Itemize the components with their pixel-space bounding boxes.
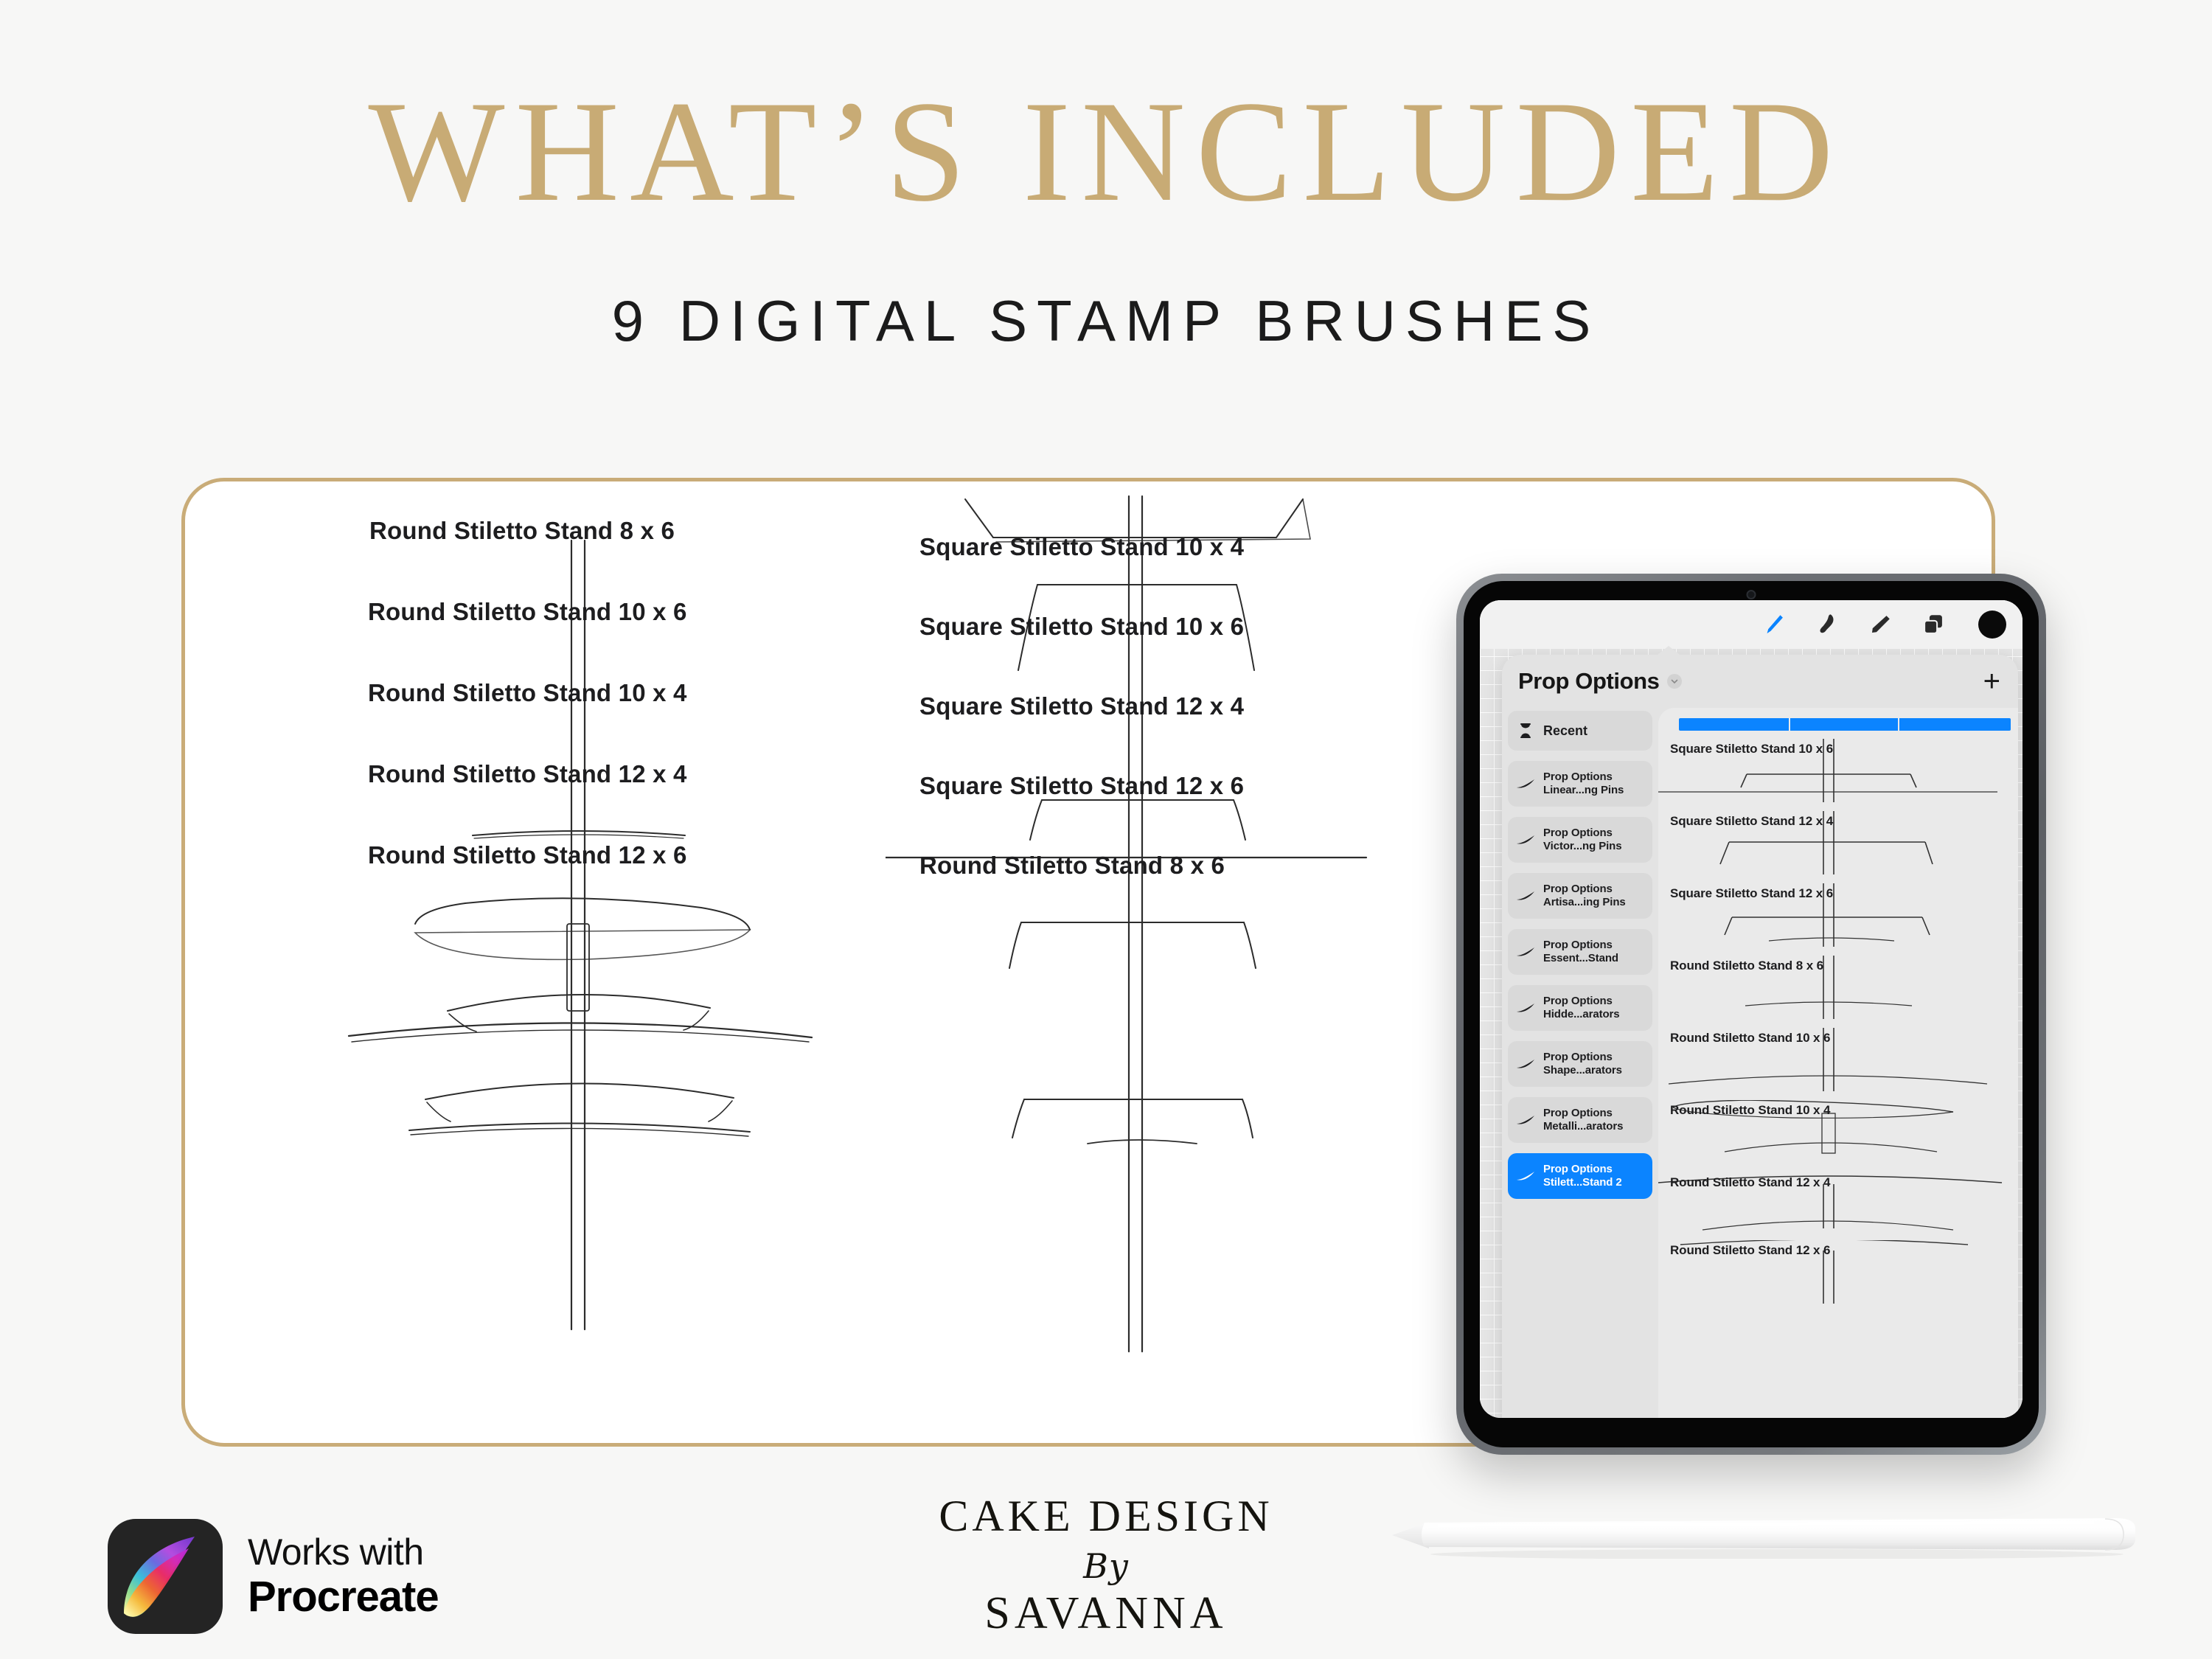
brush-name: Square Stiletto Stand 10 x 6	[1670, 742, 1833, 757]
ipad-bezel: Prop Options +	[1464, 581, 2039, 1447]
brush-set-item[interactable]: Prop Options Shape...arators	[1508, 1041, 1652, 1087]
brush-set-label: Prop Options Hidde...arators	[1543, 995, 1620, 1020]
page-title: WHAT’S INCLUDED	[0, 80, 2212, 224]
brush-stroke-icon	[1515, 1003, 1536, 1013]
page-subtitle: 9 DIGITAL STAMP BRUSHES	[0, 288, 2212, 355]
brush-list-item[interactable]: Round Stiletto Stand 8 x 6	[1658, 956, 2018, 1019]
brush-tool-icon[interactable]	[1761, 612, 1787, 637]
brush-stroke-icon	[1515, 947, 1536, 957]
illustration-label: Round Stiletto Stand 8 x 6	[919, 852, 1225, 880]
procreate-toolbar	[1480, 600, 2023, 649]
brush-list-item[interactable]: Square Stiletto Stand 12 x 4	[1658, 811, 2018, 874]
brand-line-2: By	[0, 1546, 2212, 1586]
brush-preview-bar	[1679, 718, 2011, 731]
eraser-tool-icon[interactable]	[1868, 612, 1893, 637]
brush-set-item[interactable]: Prop Options Artisa...ing Pins	[1508, 873, 1652, 919]
brush-set-list: Recent Prop Options Linear...ng Pins	[1502, 708, 1658, 1418]
panel-header: Prop Options +	[1502, 655, 2018, 708]
brush-set-line1: Prop Options	[1543, 827, 1613, 839]
brush-thumbnail-list[interactable]: Square Stiletto Stand 10 x 6 Square Sti	[1658, 708, 2018, 1418]
brush-set-line2: Victor...ng Pins	[1543, 840, 1621, 852]
brush-set-recent[interactable]: Recent	[1508, 711, 1652, 751]
brush-set-line1: Prop Options	[1543, 883, 1613, 895]
brush-set-item[interactable]: Prop Options Metalli...arators	[1508, 1097, 1652, 1143]
layers-tool-icon[interactable]	[1921, 612, 1946, 637]
brand-line-1: CAKE DESIGN	[0, 1491, 2212, 1542]
panel-caret-icon	[1654, 646, 1683, 658]
ipad-screen: Prop Options +	[1480, 600, 2023, 1418]
brush-name: Round Stiletto Stand 12 x 4	[1670, 1175, 1830, 1190]
brush-stroke-icon	[1515, 1059, 1536, 1069]
illustration-label: Round Stiletto Stand 10 x 6	[368, 598, 687, 626]
illustration-label: Square Stiletto Stand 10 x 4	[919, 533, 1244, 561]
brush-set-label: Prop Options Linear...ng Pins	[1543, 771, 1624, 796]
brush-name: Round Stiletto Stand 10 x 4	[1670, 1103, 1830, 1118]
brush-set-item[interactable]: Prop Options Victor...ng Pins	[1508, 817, 1652, 863]
brush-set-line1: Prop Options	[1543, 995, 1613, 1007]
brush-set-label: Recent	[1543, 723, 1587, 739]
brush-list-item[interactable]: Square Stiletto Stand 10 x 6	[1658, 739, 2018, 802]
brush-set-line2: Linear...ng Pins	[1543, 784, 1624, 796]
illustration-column-middle: Square Stiletto Stand 10 x 4 Square Stil…	[886, 481, 1402, 1443]
brush-set-label: Prop Options Essent...Stand	[1543, 939, 1618, 964]
illustration-label: Square Stiletto Stand 10 x 6	[919, 613, 1244, 641]
brush-set-item[interactable]: Prop Options Linear...ng Pins	[1508, 761, 1652, 807]
panel-title: Prop Options	[1518, 668, 1660, 695]
color-swatch[interactable]	[1978, 611, 2006, 639]
brush-set-line2: Hidde...arators	[1543, 1008, 1620, 1020]
brush-name: Round Stiletto Stand 8 x 6	[1670, 959, 1823, 973]
brush-stroke-icon	[1515, 891, 1536, 901]
brand-line-3: SAVANNA	[0, 1587, 2212, 1640]
brush-set-label: Prop Options Artisa...ing Pins	[1543, 883, 1626, 908]
brush-stroke-icon	[1515, 1115, 1536, 1125]
poster-root: WHAT’S INCLUDED 9 DIGITAL STAMP BRUSHES	[0, 0, 2212, 1659]
brush-set-line2: Essent...Stand	[1543, 952, 1618, 964]
brush-name: Square Stiletto Stand 12 x 4	[1670, 814, 1833, 829]
brush-list-item[interactable]: Square Stiletto Stand 12 x 6	[1658, 883, 2018, 947]
brush-list-item[interactable]: Round Stiletto Stand 12 x 6	[1658, 1240, 2018, 1304]
brush-set-line1: Prop Options	[1543, 1051, 1613, 1063]
brush-set-line1: Prop Options	[1543, 1163, 1613, 1175]
illustration-label: Round Stiletto Stand 8 x 6	[369, 517, 675, 545]
illustration-label: Square Stiletto Stand 12 x 4	[919, 692, 1244, 720]
illustration-label: Round Stiletto Stand 12 x 4	[368, 760, 687, 788]
brush-list-item[interactable]: Round Stiletto Stand 10 x 6	[1658, 1028, 2018, 1091]
illustration-label: Square Stiletto Stand 12 x 6	[919, 772, 1244, 800]
brush-set-line1: Prop Options	[1543, 1107, 1613, 1119]
brush-set-label: Prop Options Shape...arators	[1543, 1051, 1622, 1077]
brush-stroke-icon	[1515, 835, 1536, 845]
brush-set-line2: Stilett...Stand 2	[1543, 1176, 1622, 1189]
illustration-column-left: Round Stiletto Stand 8 x 6 Round Stilett…	[333, 481, 849, 1443]
illustration-label: Round Stiletto Stand 12 x 6	[368, 841, 687, 869]
brush-set-label: Prop Options Victor...ng Pins	[1543, 827, 1621, 852]
brush-set-label: Prop Options Stilett...Stand 2	[1543, 1163, 1622, 1189]
brush-set-line2: Artisa...ing Pins	[1543, 896, 1626, 908]
brush-library-panel: Prop Options +	[1502, 655, 2018, 1418]
front-camera-icon	[1747, 590, 1756, 599]
brush-list-item[interactable]: Round Stiletto Stand 10 x 4	[1658, 1100, 2018, 1164]
brush-set-line2: Shape...arators	[1543, 1064, 1622, 1077]
brush-set-line2: Metalli...arators	[1543, 1120, 1623, 1133]
chevron-down-icon[interactable]	[1667, 674, 1682, 689]
hourglass-icon	[1515, 723, 1536, 739]
brush-stroke-icon	[1515, 779, 1536, 789]
brush-name: Round Stiletto Stand 12 x 6	[1670, 1243, 1830, 1258]
add-brush-button[interactable]: +	[1983, 670, 2003, 692]
brand-logo: CAKE DESIGN By SAVANNA	[0, 1491, 2212, 1640]
illustration-label: Round Stiletto Stand 10 x 4	[368, 679, 687, 707]
panel-body: Recent Prop Options Linear...ng Pins	[1502, 708, 2018, 1418]
brush-stroke-icon	[1515, 1171, 1536, 1181]
brush-set-line1: Prop Options	[1543, 939, 1613, 951]
brush-set-label: Prop Options Metalli...arators	[1543, 1107, 1623, 1133]
brush-list-item[interactable]: Round Stiletto Stand 12 x 4	[1658, 1172, 2018, 1236]
brush-set-item-selected[interactable]: Prop Options Stilett...Stand 2	[1508, 1153, 1652, 1199]
brush-name: Round Stiletto Stand 10 x 6	[1670, 1031, 1830, 1046]
brush-name: Square Stiletto Stand 12 x 6	[1670, 886, 1833, 901]
smudge-tool-icon[interactable]	[1815, 612, 1840, 637]
brush-set-item[interactable]: Prop Options Essent...Stand	[1508, 929, 1652, 975]
ipad-device: Prop Options +	[1456, 574, 2046, 1455]
brush-set-item[interactable]: Prop Options Hidde...arators	[1508, 985, 1652, 1031]
brush-set-line1: Prop Options	[1543, 771, 1613, 783]
